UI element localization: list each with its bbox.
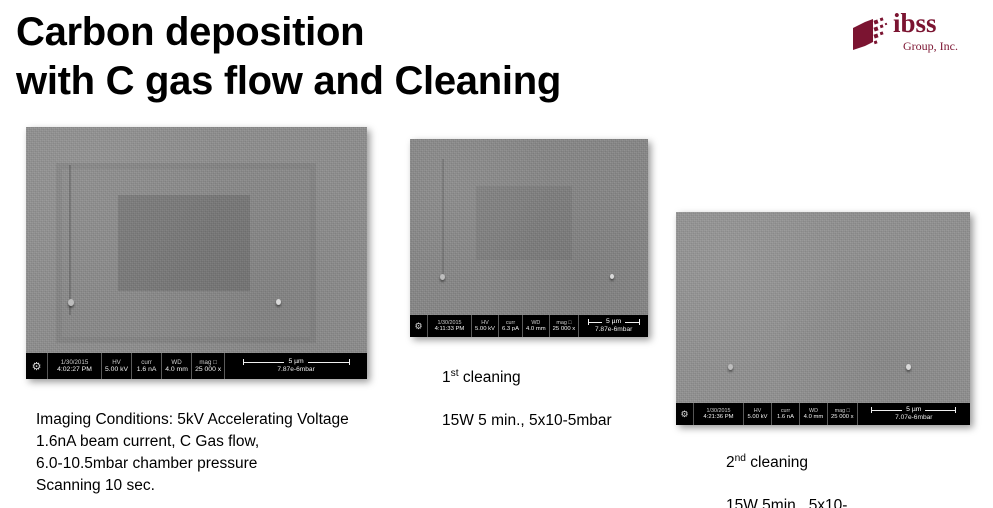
page-title: Carbon deposition with C gas flow and Cl… (16, 8, 776, 106)
scale-bar: 5 µm (238, 358, 354, 366)
ibss-pixel-grid-icon (849, 14, 889, 54)
databar-pressure: 7.87e-6mbar (277, 366, 314, 374)
imaging-conditions-text: Imaging Conditions: 5kV Accelerating Vol… (36, 409, 436, 497)
ordinal-number: 2 (726, 454, 735, 471)
sem-surface-texture (676, 212, 970, 425)
databar-working-distance: WD 4.0 mm (523, 315, 550, 337)
surface-particle (68, 299, 74, 306)
databar-scale-and-pressure: 5 µm 7.87e-6mbar (579, 315, 648, 337)
databar-working-distance: WD 4.0 mm (162, 353, 192, 379)
surface-particle (276, 299, 281, 305)
databar-scale-and-pressure: 5 µm 7.07e-6mbar (858, 403, 970, 425)
scale-bar-label: 5 µm (284, 358, 307, 366)
carbon-deposition-rectangle (118, 195, 250, 291)
phenom-logo-icon: ⚙ (410, 315, 428, 337)
databar-current: curr 6.3 pA (499, 315, 523, 337)
databar-datetime: 1/30/2015 4:21:36 PM (694, 403, 744, 425)
databar-scale-and-pressure: 5 µm 7.87e-6mbar (225, 353, 367, 379)
caption-first-cleaning: 1st cleaning 15W 5 min., 5x10-5mbar (442, 345, 672, 454)
surface-particle (610, 274, 614, 279)
sem-databar: ⚙ 1/30/2015 4:21:36 PM HV 5.00 kV curr 1… (676, 403, 970, 425)
slide-canvas: Carbon deposition with C gas flow and Cl… (0, 0, 993, 508)
databar-current: curr 1.6 nA (132, 353, 162, 379)
scale-bar-tick-right (639, 319, 640, 325)
sem-image-as-deposited: ⚙ 1/30/2015 4:02:27 PM HV 5.00 kV curr 1… (26, 127, 367, 379)
sem-image-after-2nd-cleaning: ⚙ 1/30/2015 4:21:36 PM HV 5.00 kV curr 1… (676, 212, 970, 425)
ordinal-suffix: st (451, 368, 459, 379)
caption-first-cleaning-heading: 1st cleaning (442, 367, 672, 389)
caption-second-cleaning: 2nd cleaning 15W 5min., 5x10- 5mbar (Tot… (726, 430, 946, 508)
scale-bar-label: 5 µm (902, 406, 925, 414)
company-logo: ibss Group, Inc. (849, 8, 979, 64)
phenom-logo-icon: ⚙ (26, 353, 48, 379)
residual-deposition-rectangle (476, 186, 572, 260)
scale-bar-tick-left (588, 319, 589, 325)
scale-bar-tick-right (955, 407, 956, 413)
databar-hv: HV 5.00 kV (472, 315, 499, 337)
sem-databar: ⚙ 1/30/2015 4:02:27 PM HV 5.00 kV curr 1… (26, 353, 367, 379)
ordinal-number: 1 (442, 369, 451, 386)
scale-bar-tick-right (349, 359, 350, 365)
scale-bar-tick-left (243, 359, 244, 365)
databar-current: curr 1.6 nA (772, 403, 800, 425)
scale-bar-tick-left (871, 407, 872, 413)
caption-first-cleaning-detail: 15W 5 min., 5x10-5mbar (442, 410, 672, 432)
caption-second-cleaning-detail: 15W 5min., 5x10- 5mbar (Total 10min) (726, 495, 946, 508)
surface-particle (728, 364, 733, 370)
phenom-logo-icon: ⚙ (676, 403, 694, 425)
scale-bar: 5 µm (868, 406, 960, 414)
databar-hv: HV 5.00 kV (102, 353, 132, 379)
caption-heading-rest: cleaning (459, 369, 521, 386)
logo-subtitle: Group, Inc. (903, 39, 981, 53)
databar-pressure: 7.87e-6mbar (595, 326, 632, 334)
databar-magnification: mag □ 25 000 x (828, 403, 858, 425)
scale-bar: 5 µm (585, 318, 641, 326)
caption-second-cleaning-heading: 2nd cleaning (726, 452, 946, 474)
logo-wordmark: ibss Group, Inc. (893, 10, 981, 53)
databar-pressure: 7.07e-6mbar (895, 414, 932, 422)
scan-line-artifact (69, 165, 71, 315)
databar-hv: HV 5.00 kV (744, 403, 772, 425)
scale-bar-label: 5 µm (602, 318, 625, 326)
scan-line-artifact (442, 159, 444, 277)
databar-magnification: mag □ 25 000 x (550, 315, 580, 337)
databar-datetime: 1/30/2015 4:11:33 PM (428, 315, 472, 337)
caption-heading-rest: cleaning (746, 454, 808, 471)
surface-particle (906, 364, 911, 370)
ordinal-suffix: nd (735, 453, 746, 464)
logo-name: ibss (893, 10, 981, 37)
sem-image-after-1st-cleaning: ⚙ 1/30/2015 4:11:33 PM HV 5.00 kV curr 6… (410, 139, 648, 337)
sem-databar: ⚙ 1/30/2015 4:11:33 PM HV 5.00 kV curr 6… (410, 315, 648, 337)
databar-datetime: 1/30/2015 4:02:27 PM (48, 353, 102, 379)
databar-working-distance: WD 4.0 mm (800, 403, 828, 425)
databar-magnification: mag □ 25 000 x (192, 353, 225, 379)
surface-particle (440, 274, 445, 280)
